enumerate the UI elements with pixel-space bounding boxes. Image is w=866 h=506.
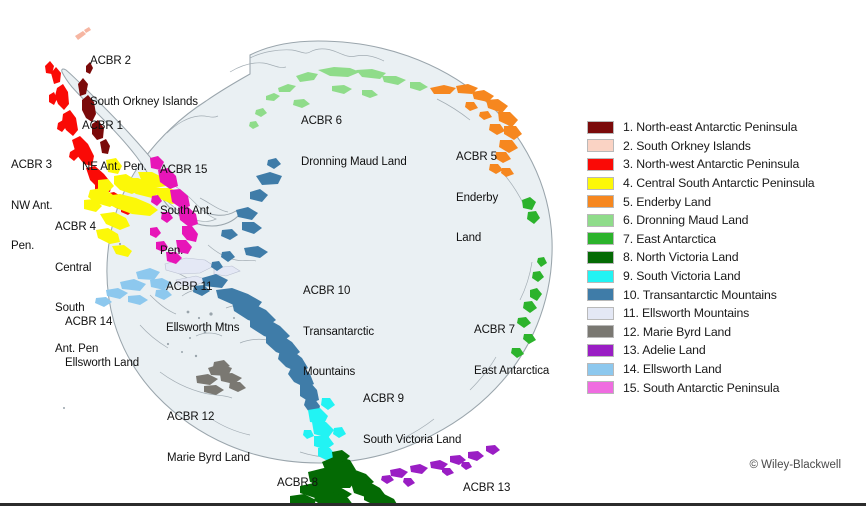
legend-item-13: 13. Adelie Land	[580, 341, 866, 360]
legend-label-12: 12. Marie Byrd Land	[623, 325, 731, 339]
map-area: ACBR 2 South Orkney Islands ACBR 1 NE An…	[0, 0, 580, 506]
map-label-acbr-5-line3: Land	[456, 232, 498, 246]
legend-swatch-15	[587, 381, 614, 394]
legend-label-9: 9. South Victoria Land	[623, 269, 740, 283]
map-label-acbr-7: ACBR 7 East Antarctica	[474, 297, 549, 405]
map-label-acbr-3-line2: NW Ant.	[11, 200, 52, 214]
map-label-acbr-6-line1: ACBR 6	[301, 115, 407, 129]
legend-label-15: 15. South Antarctic Peninsula	[623, 381, 779, 395]
legend-item-15: 15. South Antarctic Peninsula	[580, 378, 866, 397]
antarctic-acbr-map-figure: ACBR 2 South Orkney Islands ACBR 1 NE An…	[0, 0, 866, 506]
map-label-acbr-13-line1: ACBR 13	[463, 482, 523, 496]
map-label-acbr-1: ACBR 1 NE Ant. Pen.	[82, 93, 147, 201]
map-label-acbr-4-line2: Central	[55, 262, 98, 276]
legend-swatch-11	[587, 307, 614, 320]
map-label-acbr-12: ACBR 12 Marie Byrd Land	[167, 384, 250, 492]
legend-item-6: 6. Dronning Maud Land	[580, 211, 866, 230]
map-label-acbr-6: ACBR 6 Dronning Maud Land	[301, 88, 407, 196]
legend-label-13: 13. Adelie Land	[623, 343, 706, 357]
map-label-acbr-10-line1: ACBR 10	[303, 285, 374, 299]
legend-item-11: 11. Ellsworth Mountains	[580, 304, 866, 323]
map-label-acbr-15-line2: South Ant.	[160, 205, 212, 219]
region-2-south-orkney-islands	[75, 27, 91, 40]
map-label-acbr-11-line2: Ellsworth Mtns	[166, 322, 239, 336]
map-label-acbr-3-line1: ACBR 3	[11, 159, 52, 173]
map-label-acbr-1-line1: ACBR 1	[82, 120, 147, 134]
map-label-acbr-14-line1: ACBR 14	[65, 316, 139, 330]
legend-label-2: 2. South Orkney Islands	[623, 139, 751, 153]
copyright-credit: © Wiley-Blackwell	[749, 459, 841, 471]
legend-swatch-5	[587, 195, 614, 208]
legend-item-3: 3. North-west Antarctic Peninsula	[580, 155, 866, 174]
map-label-acbr-2-line1: ACBR 2	[90, 55, 198, 69]
map-label-acbr-9-line2: South Victoria Land	[363, 434, 461, 448]
legend-label-3: 3. North-west Antarctic Peninsula	[623, 157, 799, 171]
legend-label-6: 6. Dronning Maud Land	[623, 213, 748, 227]
legend-item-4: 4. Central South Antarctic Peninsula	[580, 174, 866, 193]
legend-swatch-2	[587, 139, 614, 152]
legend-label-11: 11. Ellsworth Mountains	[623, 306, 749, 320]
legend-swatch-10	[587, 288, 614, 301]
legend-swatch-7	[587, 232, 614, 245]
map-label-acbr-12-line2: Marie Byrd Land	[167, 452, 250, 466]
map-label-acbr-3-line3: Pen.	[11, 240, 52, 254]
legend-swatch-6	[587, 214, 614, 227]
map-label-acbr-15-line1: ACBR 15	[160, 164, 212, 178]
map-label-acbr-5: ACBR 5 Enderby Land	[456, 124, 498, 273]
legend-item-1: 1. North-east Antarctic Peninsula	[580, 118, 866, 137]
map-label-acbr-11-line1: ACBR 11	[166, 281, 239, 295]
map-label-acbr-14: ACBR 14 Ellsworth Land	[65, 289, 139, 397]
map-label-acbr-9-line1: ACBR 9	[363, 393, 461, 407]
legend-item-2: 2. South Orkney Islands	[580, 137, 866, 156]
map-label-acbr-7-line1: ACBR 7	[474, 324, 549, 338]
legend-swatch-9	[587, 270, 614, 283]
legend-label-14: 14. Ellsworth Land	[623, 362, 721, 376]
legend-swatch-14	[587, 363, 614, 376]
map-label-acbr-12-line1: ACBR 12	[167, 411, 250, 425]
legend-item-12: 12. Marie Byrd Land	[580, 323, 866, 342]
map-label-acbr-13: ACBR 13 Adelie Land	[463, 455, 523, 506]
legend-swatch-8	[587, 251, 614, 264]
legend-label-10: 10. Transantarctic Mountains	[623, 288, 777, 302]
legend-swatch-1	[587, 121, 614, 134]
map-label-acbr-5-line2: Enderby	[456, 192, 498, 206]
legend-item-7: 7. East Antarctica	[580, 230, 866, 249]
legend-swatch-13	[587, 344, 614, 357]
map-label-acbr-7-line2: East Antarctica	[474, 365, 549, 379]
map-label-acbr-5-line1: ACBR 5	[456, 151, 498, 165]
map-label-acbr-4-line1: ACBR 4	[55, 221, 98, 235]
legend-item-10: 10. Transantarctic Mountains	[580, 285, 866, 304]
legend-swatch-3	[587, 158, 614, 171]
legend-swatch-4	[587, 177, 614, 190]
map-label-acbr-9: ACBR 9 South Victoria Land	[363, 366, 461, 474]
legend-label-4: 4. Central South Antarctic Peninsula	[623, 176, 814, 190]
map-label-acbr-1-line2: NE Ant. Pen.	[82, 161, 147, 175]
map-label-acbr-11: ACBR 11 Ellsworth Mtns	[166, 254, 239, 362]
map-label-acbr-8: ACBR 8 North Victoria Land	[277, 450, 373, 506]
legend-item-14: 14. Ellsworth Land	[580, 360, 866, 379]
legend-item-8: 8. North Victoria Land	[580, 248, 866, 267]
legend-swatch-12	[587, 325, 614, 338]
map-label-acbr-6-line2: Dronning Maud Land	[301, 156, 407, 170]
legend-label-7: 7. East Antarctica	[623, 232, 716, 246]
legend-label-5: 5. Enderby Land	[623, 195, 711, 209]
legend-label-1: 1. North-east Antarctic Peninsula	[623, 120, 797, 134]
legend: 1. North-east Antarctic Peninsula 2. Sou…	[580, 118, 866, 397]
map-label-acbr-3: ACBR 3 NW Ant. Pen.	[11, 132, 52, 281]
legend-item-9: 9. South Victoria Land	[580, 267, 866, 286]
legend-item-5: 5. Enderby Land	[580, 192, 866, 211]
legend-label-8: 8. North Victoria Land	[623, 250, 738, 264]
map-label-acbr-8-line1: ACBR 8	[277, 477, 373, 491]
map-label-acbr-10-line2: Transantarctic	[303, 326, 374, 340]
map-label-acbr-14-line2: Ellsworth Land	[65, 357, 139, 371]
